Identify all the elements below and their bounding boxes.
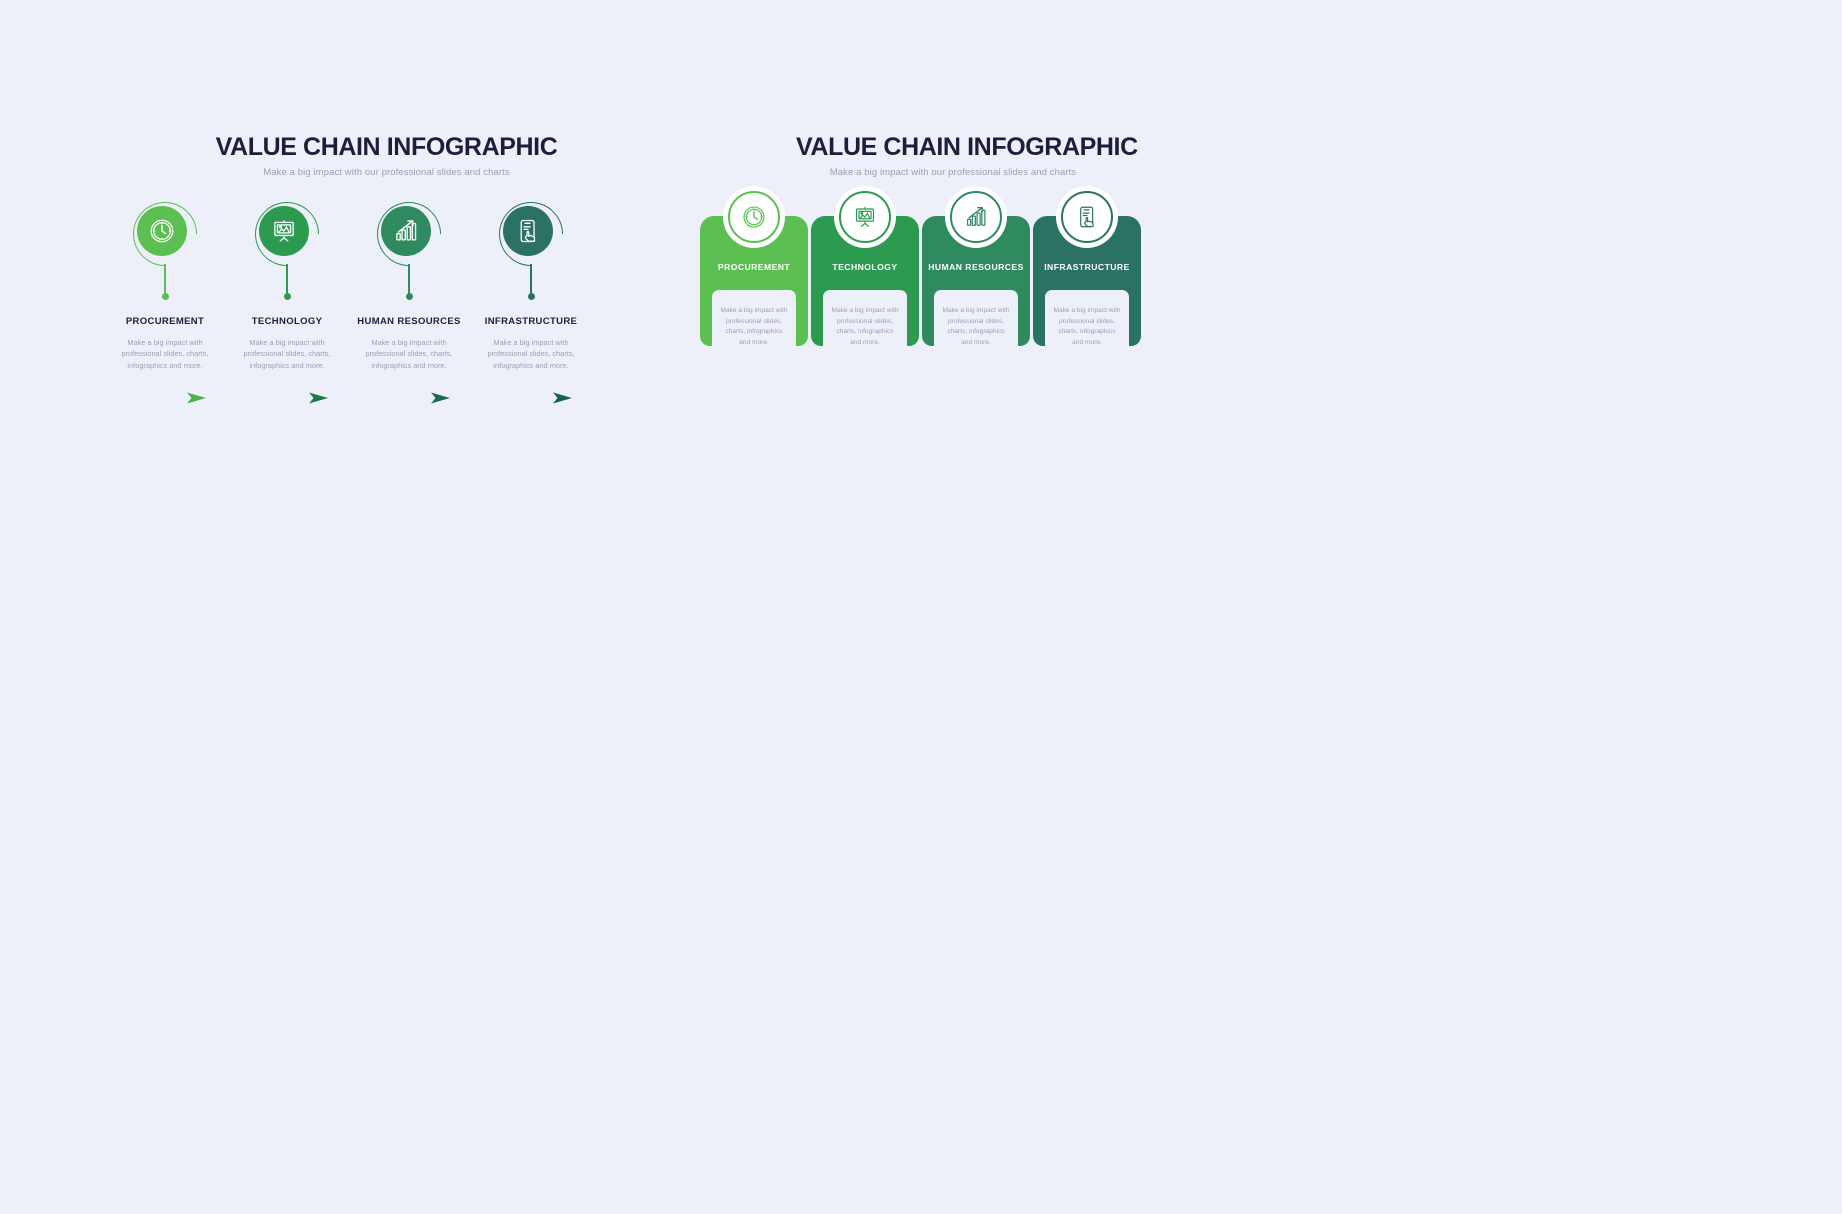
mobile-touch-icon [1061,191,1113,243]
card-title: PROCUREMENT [700,262,808,274]
card-procurement[interactable]: PROCUREMENT Make a big impact with profe… [700,216,808,346]
left-infographic: VALUE CHAIN INFOGRAPHIC Make a big impac… [105,133,600,405]
right-header: VALUE CHAIN INFOGRAPHIC Make a big impac… [796,133,1110,178]
left-step-label: TECHNOLOGY [252,316,323,329]
card-badge [723,186,785,248]
growth-chart-icon [381,206,431,256]
card-title: TECHNOLOGY [811,262,919,274]
left-step-procurement[interactable]: PROCUREMENT Make a big impact with profe… [105,202,225,405]
left-step-body: Make a big impact with professional slid… [479,337,584,371]
card-slot-procurement: PROCUREMENT Make a big impact with profe… [700,216,808,346]
connector-line [286,264,287,294]
arrow-right-icon [245,391,330,405]
left-step-label: HUMAN RESOURCES [357,316,460,329]
card-title: HUMAN RESOURCES [922,262,1030,274]
connector-line [408,264,409,294]
left-step-body: Make a big impact with professional slid… [357,337,462,371]
left-step-body: Make a big impact with professional slid… [235,337,340,371]
left-page-title: VALUE CHAIN INFOGRAPHIC [173,133,600,162]
connector-line [530,264,531,294]
mobile-touch-icon [503,206,553,256]
card-title: INFRASTRUCTURE [1033,262,1141,274]
card-body-panel: Make a big impact with professional slid… [823,290,907,358]
card-badge [1056,186,1118,248]
connector-dot [528,293,535,300]
presentation-board-icon [839,191,891,243]
presentation-board-icon [259,206,309,256]
card-body-panel: Make a big impact with professional slid… [712,290,796,358]
card-body-panel: Make a big impact with professional slid… [934,290,1018,358]
arrow-right-icon [123,391,208,405]
connector-dot [162,293,169,300]
right-page-title: VALUE CHAIN INFOGRAPHIC [796,133,1110,162]
card-human-resources[interactable]: HUMAN RESOURCES Make a big impact with p… [922,216,1030,346]
card-slot-infrastructure: INFRASTRUCTURE Make a big impact with pr… [1033,216,1141,346]
left-step-technology[interactable]: TECHNOLOGY Make a big impact with profes… [227,202,347,405]
left-page-subtitle: Make a big impact with our professional … [173,167,600,178]
connector-line [164,264,165,294]
left-badge-1 [133,202,197,266]
card-technology[interactable]: TECHNOLOGY Make a big impact with profes… [811,216,919,346]
left-badge-2 [255,202,319,266]
card-body-text: Make a big impact with professional slid… [831,306,899,349]
card-body-text: Make a big impact with professional slid… [1053,306,1121,349]
left-step-infrastructure[interactable]: INFRASTRUCTURE Make a big impact with pr… [471,202,591,405]
right-infographic: VALUE CHAIN INFOGRAPHIC Make a big impac… [690,133,1110,346]
arrow-right-icon [489,391,574,405]
connector-dot [406,293,413,300]
left-badge-3 [377,202,441,266]
card-body-text: Make a big impact with professional slid… [720,306,788,349]
growth-chart-icon [950,191,1002,243]
card-slot-technology: TECHNOLOGY Make a big impact with profes… [811,216,919,346]
card-body-text: Make a big impact with professional slid… [942,306,1010,349]
left-step-label: INFRASTRUCTURE [485,316,578,329]
left-step-label: PROCUREMENT [126,316,204,329]
connector-dot [284,293,291,300]
right-card-row: PROCUREMENT Make a big impact with profe… [700,216,1110,346]
left-header: VALUE CHAIN INFOGRAPHIC Make a big impac… [173,133,600,178]
infographic-canvas: VALUE CHAIN INFOGRAPHIC Make a big impac… [0,0,1842,1214]
left-step-row: PROCUREMENT Make a big impact with profe… [105,202,600,405]
left-step-body: Make a big impact with professional slid… [113,337,218,371]
left-badge-4 [499,202,563,266]
arrow-right-icon [367,391,452,405]
clock-icon [728,191,780,243]
right-page-subtitle: Make a big impact with our professional … [796,167,1110,178]
card-body-panel: Make a big impact with professional slid… [1045,290,1129,358]
card-badge [834,186,896,248]
card-infrastructure[interactable]: INFRASTRUCTURE Make a big impact with pr… [1033,216,1141,346]
left-step-human-resources[interactable]: HUMAN RESOURCES Make a big impact with p… [349,202,469,405]
card-badge [945,186,1007,248]
card-slot-human-resources: HUMAN RESOURCES Make a big impact with p… [922,216,1030,346]
clock-icon [137,206,187,256]
